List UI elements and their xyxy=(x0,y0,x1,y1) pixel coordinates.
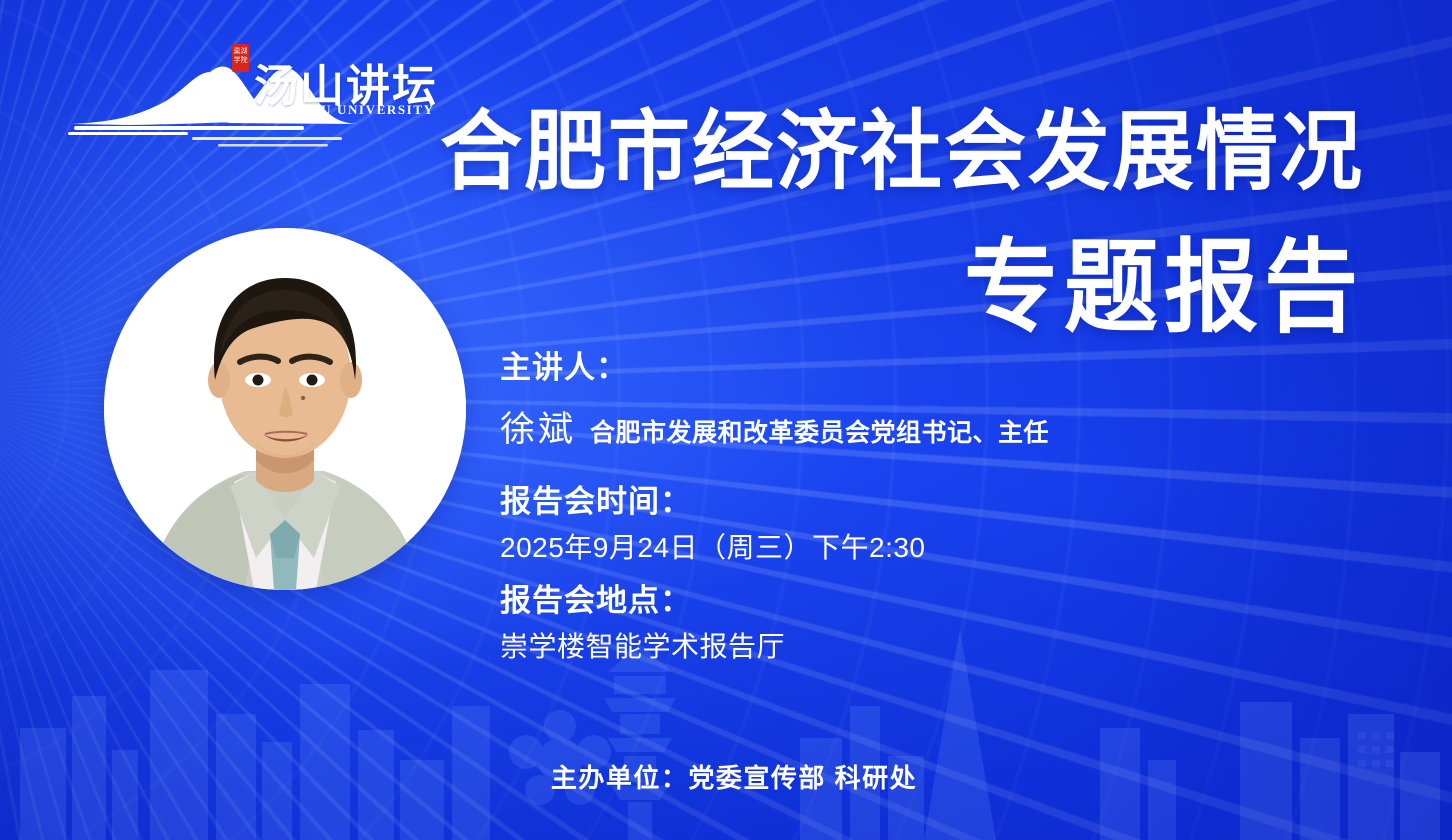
venue-label: 报告会地点： xyxy=(500,581,1260,620)
organizer-text: 主办单位：党委宣传部 科研处 xyxy=(551,758,917,795)
speaker-row: 徐斌 合肥市发展和改革委员会党组书记、主任 xyxy=(500,401,1260,452)
speaker-portrait-avatar xyxy=(104,228,466,590)
time-value: 2025年9月24日（周三）下午2:30 xyxy=(500,529,1260,567)
poster-footer: 主办单位：党委宣传部 科研处 xyxy=(0,758,1452,795)
speaker-label: 主讲人： xyxy=(500,348,1260,387)
logo-seal-stamp: 巢湖学院 xyxy=(232,44,249,72)
time-label: 报告会时间： xyxy=(500,482,1260,521)
poster-canvas: 巢湖学院 汤山讲坛 CHAOHU UNIVERSITY 合肥市经济社会发展情况 … xyxy=(0,0,1452,840)
chaohu-university-logo: 巢湖学院 汤山讲坛 CHAOHU UNIVERSITY xyxy=(68,52,418,148)
headline-line-2: 专题报告 xyxy=(404,235,1364,342)
event-details: 主讲人： 徐斌 合肥市发展和改革委员会党组书记、主任 报告会时间： 2025年9… xyxy=(500,348,1260,666)
speaker-title: 合肥市发展和改革委员会党组书记、主任 xyxy=(590,413,1049,449)
headline-line-1: 合肥市经济社会发展情况 xyxy=(404,107,1364,199)
poster-headline: 合肥市经济社会发展情况 专题报告 xyxy=(404,110,1364,338)
venue-value: 崇学楼智能学术报告厅 xyxy=(500,628,1260,666)
speaker-name: 徐斌 xyxy=(500,401,576,452)
